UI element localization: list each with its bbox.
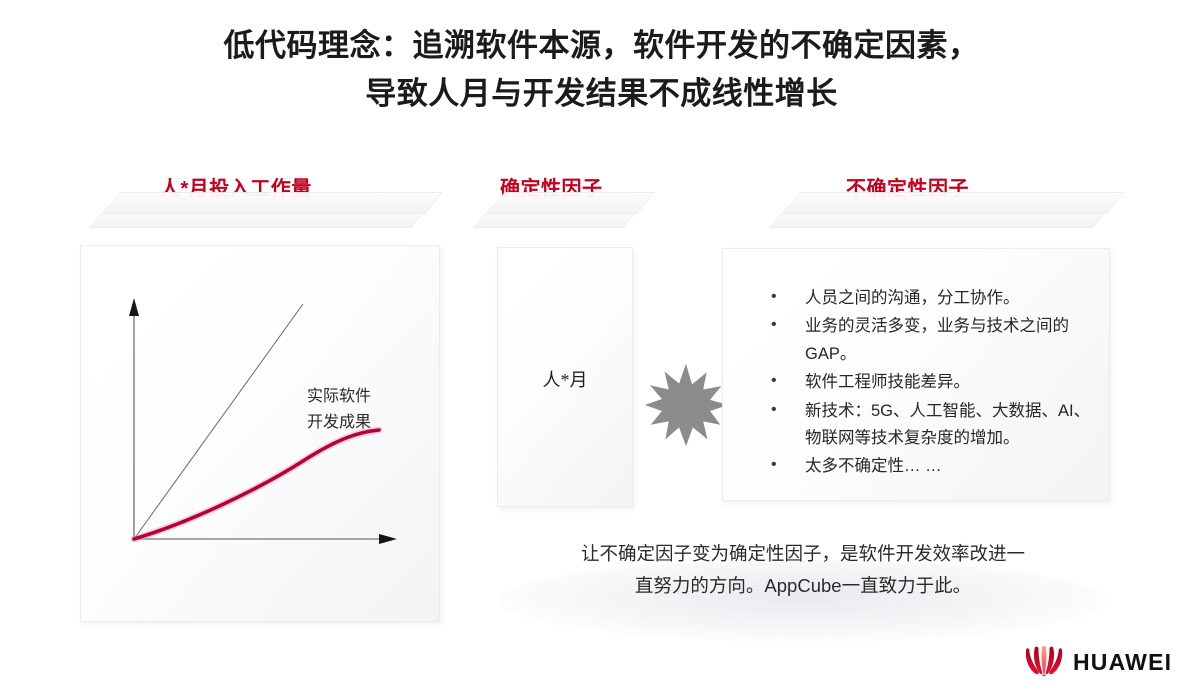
section-heading-effort: 人*月投入工作量 — [160, 172, 312, 201]
person-month-label: 人*月 — [498, 366, 632, 392]
list-item: 太多不确定性… … — [771, 453, 1091, 480]
chart-annotation-line-1: 实际软件 — [307, 384, 417, 410]
slide-canvas: 低代码理念：追溯软件本源，软件开发的不确定因素， 导致人月与开发结果不成线性增长… — [0, 0, 1203, 693]
summary-caption-line-2: 直努力的方向。AppCube一直致力于此。 — [498, 570, 1108, 602]
huawei-wordmark: HUAWEI — [1073, 651, 1172, 674]
panel-certain-factor: 人*月 — [497, 247, 633, 507]
chart-annotation-line-2: 开发成果 — [307, 410, 417, 436]
chart-annotation-actual-output: 实际软件 开发成果 — [307, 384, 417, 437]
page-title-line-1: 低代码理念：追溯软件本源，软件开发的不确定因素， — [0, 22, 1203, 70]
chart-y-axis-arrow-icon — [129, 298, 139, 316]
huawei-logo: HUAWEI — [1024, 646, 1172, 678]
list-item: 业务的灵活多变，业务与技术之间的GAP。 — [771, 313, 1091, 368]
page-title: 低代码理念：追溯软件本源，软件开发的不确定因素， 导致人月与开发结果不成线性增长 — [0, 22, 1203, 118]
chart-series-actual-halo — [134, 430, 379, 539]
starburst-icon — [643, 362, 729, 448]
page-title-line-2: 导致人月与开发结果不成线性增长 — [0, 70, 1203, 118]
chart-x-axis-arrow-icon — [379, 534, 397, 544]
paper-sheet-back — [769, 206, 1110, 228]
paper-sheet-back — [473, 206, 640, 228]
list-item: 软件工程师技能差异。 — [771, 369, 1091, 396]
uncertain-factor-list: 人员之间的沟通，分工协作。业务的灵活多变，业务与技术之间的GAP。软件工程师技能… — [771, 285, 1091, 482]
summary-caption-line-1: 让不确定因子变为确定性因子，是软件开发效率改进一 — [498, 538, 1108, 570]
section-heading-uncertain-factor: 不确定性因子 — [846, 172, 969, 201]
panel-uncertain-factors: 人员之间的沟通，分工协作。业务的灵活多变，业务与技术之间的GAP。软件工程师技能… — [722, 248, 1110, 501]
panel-effort-chart: 实际软件 开发成果 — [80, 245, 440, 622]
section-heading-certain-factor: 确定性因子 — [500, 172, 603, 201]
huawei-flower-icon — [1024, 646, 1064, 678]
list-item: 新技术：5G、人工智能、大数据、AI、物联网等技术复杂度的增加。 — [771, 398, 1091, 453]
summary-caption: 让不确定因子变为确定性因子，是软件开发效率改进一 直努力的方向。AppCube一… — [498, 538, 1108, 602]
list-item: 人员之间的沟通，分工协作。 — [771, 285, 1091, 312]
paper-sheet-back — [89, 206, 428, 228]
